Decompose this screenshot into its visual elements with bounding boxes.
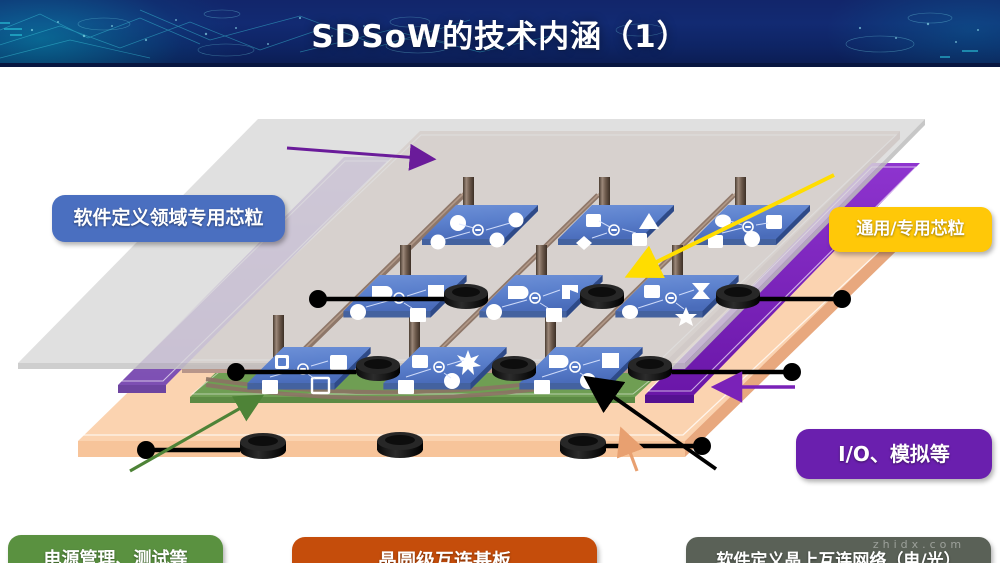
node-base-3: [560, 433, 606, 459]
node-mid-2: [580, 284, 624, 309]
node-mid-3: [716, 284, 760, 309]
node-base-1: [240, 433, 286, 459]
slide-canvas: SDSoW的技术内涵（1）: [0, 0, 1000, 563]
callout-label: 晶圆级互连基板: [378, 551, 511, 563]
callout-domain-specific-chiplet[interactable]: 软件定义领域专用芯粒: [52, 195, 285, 242]
callout-label: 软件定义晶上互连网络（电/光）: [716, 552, 960, 563]
callout-io-analog[interactable]: I/O、模拟等: [796, 429, 992, 479]
node-row2-2: [492, 356, 536, 381]
callout-label: 通用/专用芯粒: [856, 220, 964, 239]
node-base-2: [377, 432, 423, 458]
callout-general-purpose-chiplet[interactable]: 通用/专用芯粒: [829, 207, 992, 252]
node-row2-1: [356, 356, 400, 381]
callout-label: 电源管理、测试等: [44, 550, 188, 563]
callout-wafer-scale-substrate[interactable]: 晶圆级互连基板: [292, 537, 597, 563]
sdsow-architecture-diagram: 软件定义领域专用芯粒 通用/专用芯粒 I/O、模拟等 电源管理、测试等 晶圆级互…: [0, 67, 1000, 563]
page-title: SDSoW的技术内涵（1）: [0, 0, 1000, 67]
title-banner: SDSoW的技术内涵（1）: [0, 0, 1000, 67]
node-row2-3: [628, 356, 672, 381]
callout-label: 软件定义领域专用芯粒: [73, 208, 263, 229]
callout-power-management[interactable]: 电源管理、测试等: [8, 535, 223, 563]
node-mid-1: [444, 284, 488, 309]
callout-sd-interconnect-network[interactable]: 软件定义晶上互连网络（电/光）: [686, 537, 991, 563]
callout-label: I/O、模拟等: [838, 443, 950, 465]
